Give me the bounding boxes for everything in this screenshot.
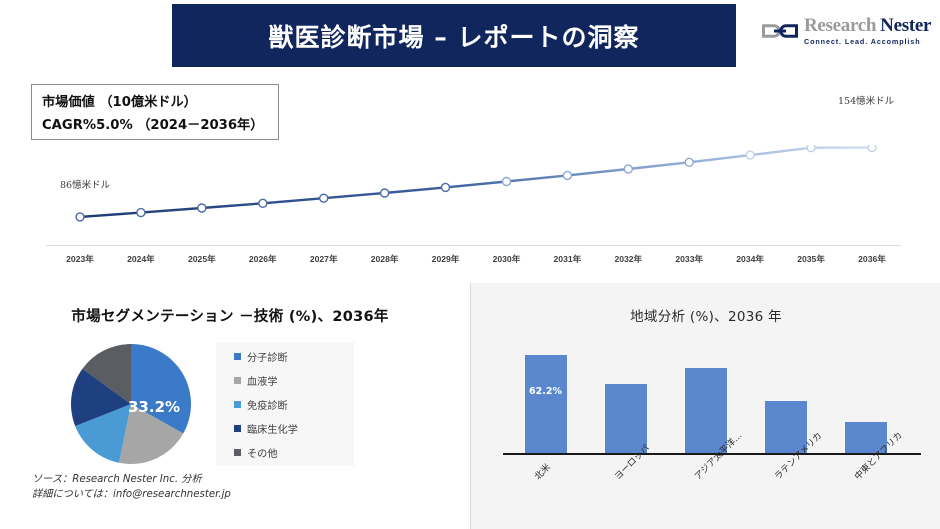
segmentation-title: 市場セグメンテーション －技術 (%)、2036年 (0, 305, 460, 326)
line-data-point (624, 165, 632, 173)
logo-tagline: Connect. Lead. Accomplish (804, 38, 931, 45)
legend-label: 免疫診断 (247, 397, 288, 412)
source-line-2: 詳細については：info@researchnester.jp (32, 488, 231, 503)
research-nester-logo: Research Nester Connect. Lead. Accomplis… (762, 16, 932, 56)
year-tick-label: 2036年 (842, 253, 902, 265)
year-tick-label: 2035年 (781, 253, 841, 265)
source-note: ソース：Research Nester Inc. 分析 詳細については：info… (32, 473, 231, 503)
year-tick-label: 2034年 (720, 253, 780, 265)
year-tick-label: 2033年 (659, 253, 719, 265)
bar-value-label: 62.2% (529, 386, 562, 397)
pie-legend-item: 分子診断 (234, 349, 354, 364)
line-data-point (137, 209, 145, 217)
line-data-point (76, 213, 84, 221)
source-line-1: ソース：Research Nester Inc. 分析 (32, 473, 231, 488)
line-data-point (746, 151, 754, 159)
title-banner: 獣医診断市場 – レポートの洞察 (172, 4, 736, 67)
year-tick-label: 2027年 (294, 253, 354, 265)
logo-word-nester: Nester (880, 16, 931, 35)
market-value-cagr-box: 市場価値 （10億米ドル） CAGR%5.0% （2024－2036年） (31, 84, 279, 140)
line-end-value-label: 154憶米ドル (838, 93, 894, 107)
line-data-point (685, 158, 693, 166)
year-tick-label: 2023年 (50, 253, 110, 265)
year-tick-label: 2028年 (355, 253, 415, 265)
line-data-point (198, 204, 206, 212)
legend-swatch (234, 449, 241, 456)
bar-category-label: 北米 (531, 460, 553, 482)
market-value-label: 市場価値 （10億米ドル） (42, 91, 268, 110)
cagr-label: CAGR%5.0% （2024－2036年） (42, 114, 268, 133)
bar-column (525, 355, 567, 453)
year-tick-label: 2029年 (416, 253, 476, 265)
year-tick-label: 2030年 (476, 253, 536, 265)
line-data-point (563, 171, 571, 179)
legend-swatch (234, 377, 241, 384)
line-data-point (442, 183, 450, 191)
regional-analysis-title: 地域分析 (%)、2036 年 (471, 305, 940, 325)
legend-swatch (234, 353, 241, 360)
market-value-line-chart: 86憶米ドル 154憶米ドル 2023年2024年2025年2026年2027年… (0, 145, 940, 275)
legend-label: 臨床生化学 (247, 421, 298, 436)
pie-legend-item: その他 (234, 445, 354, 460)
year-tick-label: 2024年 (111, 253, 171, 265)
pie-legend: 分子診断血液学免疫診断臨床生化学その他 (216, 342, 354, 466)
legend-swatch (234, 425, 241, 432)
line-data-point (503, 178, 511, 186)
line-data-point (868, 145, 876, 152)
pie-legend-item: 臨床生化学 (234, 421, 354, 436)
legend-label: その他 (247, 445, 278, 460)
pie-legend-item: 血液学 (234, 373, 354, 388)
line-data-point (381, 189, 389, 197)
line-data-point (807, 145, 815, 152)
regional-analysis-panel: 地域分析 (%)、2036 年 62.2% 北米ヨーロッパアジア太平洋…ラテンア… (470, 283, 940, 529)
segmentation-panel: 市場セグメンテーション －技術 (%)、2036年 33.2% 分子診断血液学免… (0, 283, 470, 529)
legend-swatch (234, 401, 241, 408)
legend-label: 分子診断 (247, 349, 288, 364)
logo-link-icon (762, 19, 798, 43)
logo-word-research: Research (804, 16, 876, 35)
year-tick-label: 2031年 (537, 253, 597, 265)
line-chart-axis (46, 245, 901, 246)
year-tick-label: 2026年 (233, 253, 293, 265)
pie-legend-item: 免疫診断 (234, 397, 354, 412)
year-tick-label: 2025年 (172, 253, 232, 265)
line-chart-x-axis-labels: 2023年2024年2025年2026年2027年2028年2029年2030年… (0, 253, 940, 273)
regional-bar-chart: 62.2% (511, 343, 911, 453)
bar-column (685, 368, 727, 453)
page-title: 獣医診断市場 – レポートの洞察 (269, 18, 640, 54)
line-start-value-label: 86憶米ドル (60, 177, 110, 191)
pie-highlight-value: 33.2% (128, 398, 180, 416)
bar-chart-x-axis-labels: 北米ヨーロッパアジア太平洋…ラテンアメリカ中東とアフリカ (471, 457, 940, 517)
year-tick-label: 2032年 (598, 253, 658, 265)
legend-label: 血液学 (247, 373, 278, 388)
slide-root: 獣医診断市場 – レポートの洞察 Research Nester Connect… (0, 0, 940, 529)
line-data-point (320, 194, 328, 202)
line-data-point (259, 199, 267, 207)
